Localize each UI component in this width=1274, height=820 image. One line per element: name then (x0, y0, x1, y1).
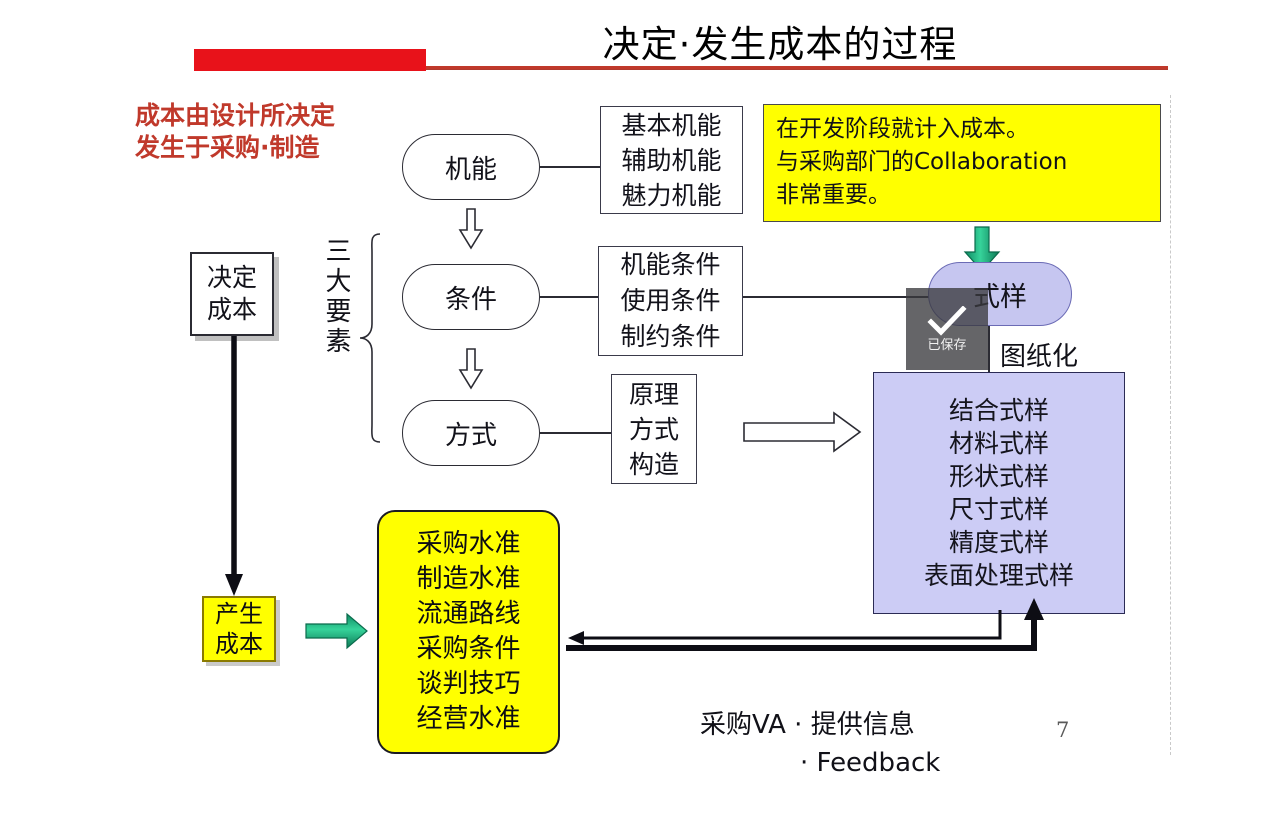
slide-canvas: 决定·发生成本的过程 成本由设计所决定 发生于采购·制造 决定 成本 三 大 要… (0, 0, 1274, 777)
title-accent-bar (194, 49, 426, 71)
saved-toast-label: 已保存 (927, 338, 966, 353)
three-elements-char-2: 大 (322, 267, 356, 297)
caption-line-2: · Feedback (700, 744, 940, 782)
drawing-label: 图纸化 (1000, 336, 1078, 373)
down-chevron-icon-1 (458, 208, 484, 250)
produce-cost-box: 产生 成本 (202, 596, 276, 662)
three-elements-char-4: 素 (322, 327, 356, 357)
saved-toast: 已保存 (906, 288, 988, 370)
curly-brace-icon (358, 232, 384, 444)
condition-details-box: 机能条件 使用条件 制约条件 (598, 246, 743, 356)
function-details-box: 基本机能 辅助机能 魅力机能 (600, 106, 743, 214)
red-note: 成本由设计所决定 发生于采购·制造 (135, 100, 335, 164)
down-chevron-icon-2 (458, 348, 484, 390)
three-elements-char-1: 三 (322, 237, 356, 267)
page-title: 决定·发生成本的过程 (430, 14, 1130, 68)
pill-condition: 条件 (402, 264, 540, 330)
connector-condition (540, 296, 598, 298)
connector-spec-to-list (988, 326, 990, 374)
method-details-box: 原理 方式 构造 (611, 374, 697, 484)
page-number: 7 (1056, 718, 1069, 742)
white-block-arrow-icon (742, 410, 862, 454)
pill-function: 机能 (402, 134, 540, 200)
cost-factors-box: 采购水准 制造水准 流通路线 采购条件 谈判技巧 经营水准 (377, 510, 560, 754)
decide-cost-box: 决定 成本 (190, 252, 274, 336)
yellow-note-development: 在开发阶段就计入成本。 与采购部门的Collaboration 非常重要。 (763, 104, 1161, 222)
connector-function (540, 166, 600, 168)
caption-line-1: 采购VA · 提供信息 (700, 710, 915, 740)
spec-list-box: 结合式样 材料式样 形状式样 尺寸式样 精度式样 表面处理式样 (873, 372, 1125, 614)
three-elements-char-3: 要 (322, 297, 356, 327)
connector-method (540, 432, 611, 434)
green-right-arrow-icon (305, 612, 369, 650)
arrow-feedback-to-spec (560, 596, 1080, 656)
arrow-decide-to-produce (218, 336, 250, 600)
pill-method: 方式 (402, 400, 540, 466)
check-icon (927, 306, 967, 336)
title-rule-thin (426, 69, 1168, 70)
three-elements-label: 三 大 要 素 (322, 237, 356, 357)
right-dashed-guide (1170, 95, 1171, 755)
feedback-caption: 采购VA · 提供信息 · Feedback (700, 668, 940, 820)
